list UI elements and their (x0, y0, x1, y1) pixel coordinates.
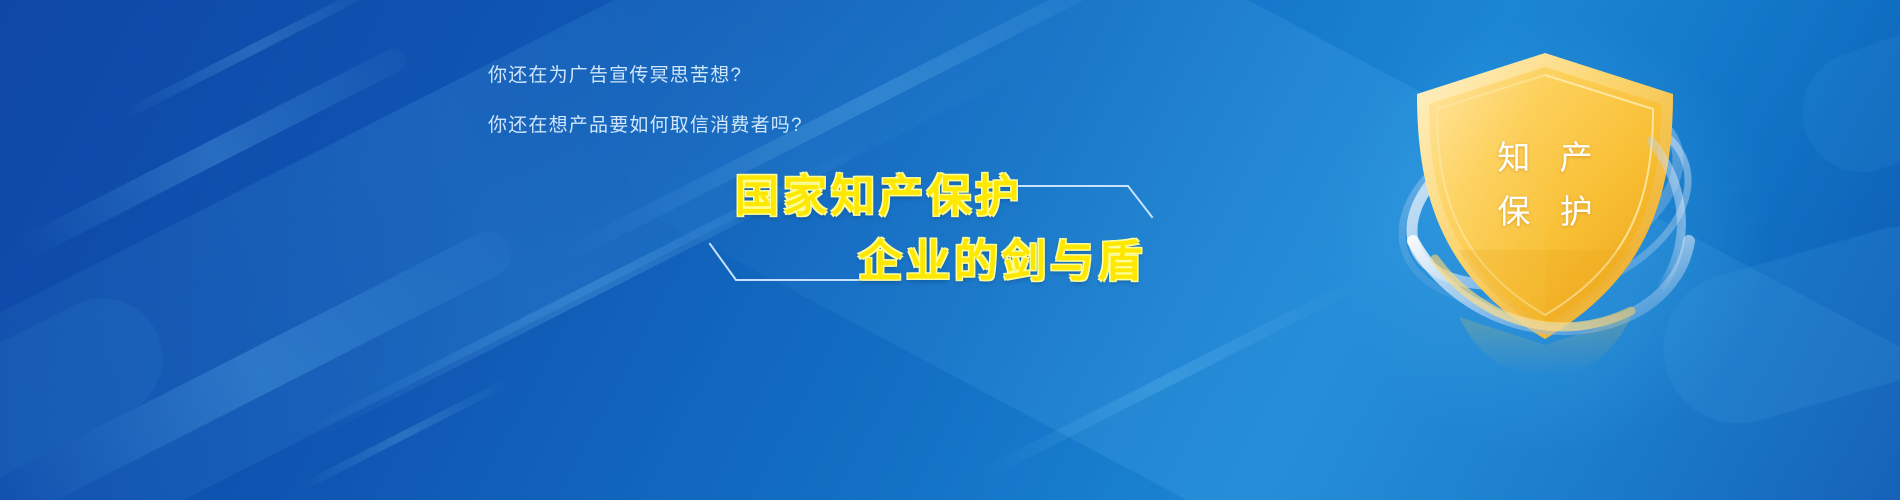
promo-banner: 你还在为广告宣传冥思苦想? 你还在想产品要如何取信消费者吗? 国家知产保护 企业… (0, 0, 1900, 500)
shield-emblem: 知 产 保 护 (1395, 45, 1695, 375)
sub-line-1: 你还在为广告宣传冥思苦想? (488, 66, 1208, 85)
copy-block: 你还在为广告宣传冥思苦想? 你还在想产品要如何取信消费者吗? (488, 66, 1208, 166)
streak-3 (118, 0, 390, 121)
headline-secondary: 企业的剑与盾 (858, 240, 1146, 284)
sub-line-2: 你还在想产品要如何取信消费者吗? (488, 116, 1208, 135)
blob-right-small (1785, 11, 1900, 189)
headline-primary: 国家知产保护 (735, 175, 1023, 219)
